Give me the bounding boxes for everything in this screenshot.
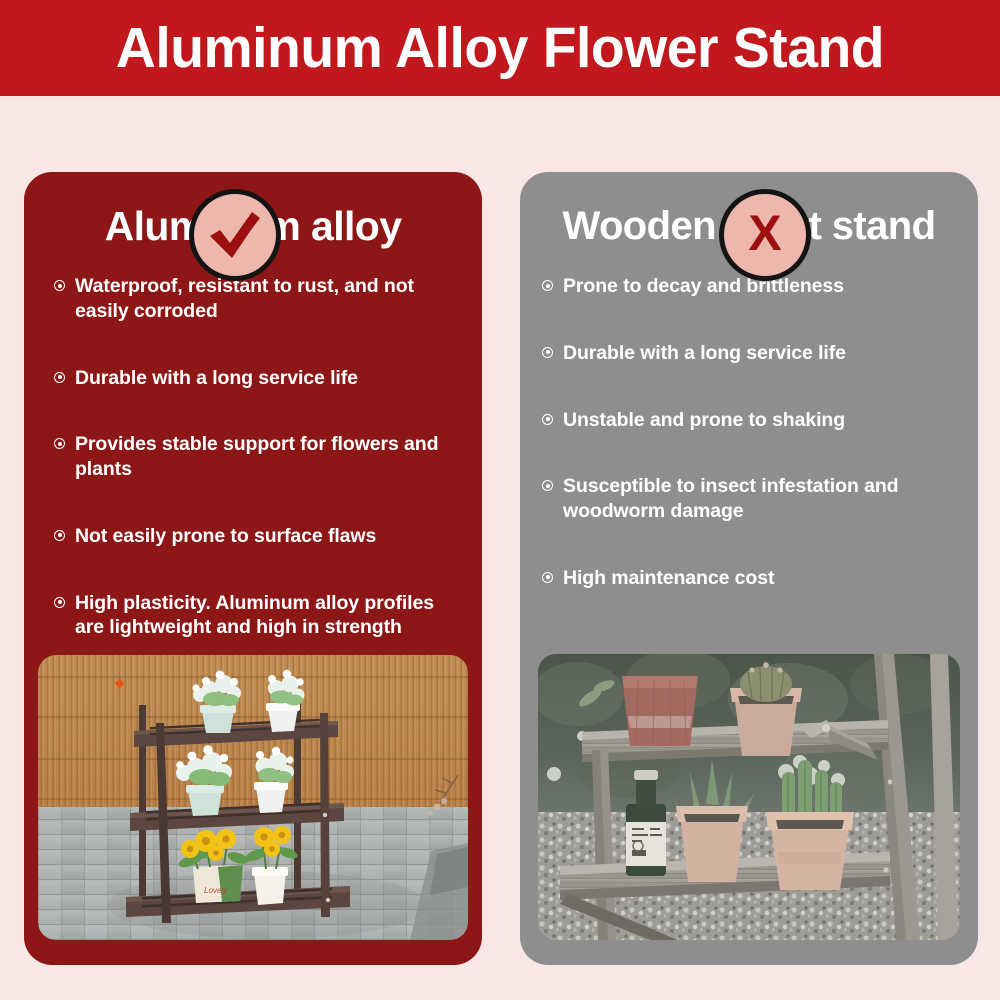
list-item: Provides stable support for flowers and …: [54, 432, 460, 482]
product-photo-aluminum-stand: Lovely: [38, 655, 468, 940]
list-item-label: Unstable and prone to shaking: [563, 408, 964, 433]
svg-text:Lovely: Lovely: [204, 886, 228, 895]
list-item-label: High maintenance cost: [563, 566, 964, 591]
feature-list-wooden-plant-stand: Prone to decay and brittleness Durable w…: [542, 274, 964, 633]
bullet-dot-icon: [542, 572, 553, 583]
list-item-label: Provides stable support for flowers and …: [75, 432, 460, 482]
list-item-label: Waterproof, resistant to rust, and not e…: [75, 274, 460, 324]
bullet-dot-icon: [542, 480, 553, 491]
list-item-label: Not easily prone to surface flaws: [75, 524, 460, 549]
bullet-dot-icon: [542, 347, 553, 358]
bullet-dot-icon: [54, 438, 65, 449]
list-item: Not easily prone to surface flaws: [54, 524, 460, 549]
status-badge-bad: X: [719, 189, 811, 281]
aluminum-stand-illustration: Lovely: [38, 655, 468, 940]
header-banner: Aluminum Alloy Flower Stand: [0, 0, 1000, 96]
list-item: Unstable and prone to shaking: [542, 408, 964, 433]
x-icon: X: [748, 208, 781, 258]
status-badge-good: [189, 189, 281, 281]
list-item: High plasticity. Aluminum alloy profiles…: [54, 591, 460, 641]
list-item-label: Durable with a long service life: [75, 366, 460, 391]
page-title: Aluminum Alloy Flower Stand: [116, 20, 884, 77]
bullet-dot-icon: [54, 530, 65, 541]
list-item: Durable with a long service life: [54, 366, 460, 391]
bullet-dot-icon: [542, 414, 553, 425]
list-item: Susceptible to insect infestation and wo…: [542, 474, 964, 524]
feature-list-aluminum-alloy: Waterproof, resistant to rust, and not e…: [54, 274, 460, 682]
list-item-label: Durable with a long service life: [563, 341, 964, 366]
bullet-dot-icon: [54, 597, 65, 608]
product-photo-wooden-stand: [538, 654, 960, 940]
list-item: High maintenance cost: [542, 566, 964, 591]
bullet-dot-icon: [54, 280, 65, 291]
card-aluminum-alloy: Aluminum alloy Waterproof, resistant to …: [24, 172, 482, 965]
list-item: Durable with a long service life: [542, 341, 964, 366]
wooden-stand-illustration: [538, 654, 960, 940]
list-item: Waterproof, resistant to rust, and not e…: [54, 274, 460, 324]
bullet-dot-icon: [542, 280, 553, 291]
list-item-label: High plasticity. Aluminum alloy profiles…: [75, 591, 460, 641]
comparison-container: Aluminum alloy Waterproof, resistant to …: [0, 96, 1000, 1000]
list-item-label: Susceptible to insect infestation and wo…: [563, 474, 964, 524]
bullet-dot-icon: [54, 372, 65, 383]
card-wooden-plant-stand: Wooden Plant stand Prone to decay and br…: [520, 172, 978, 965]
check-icon: [207, 210, 263, 260]
